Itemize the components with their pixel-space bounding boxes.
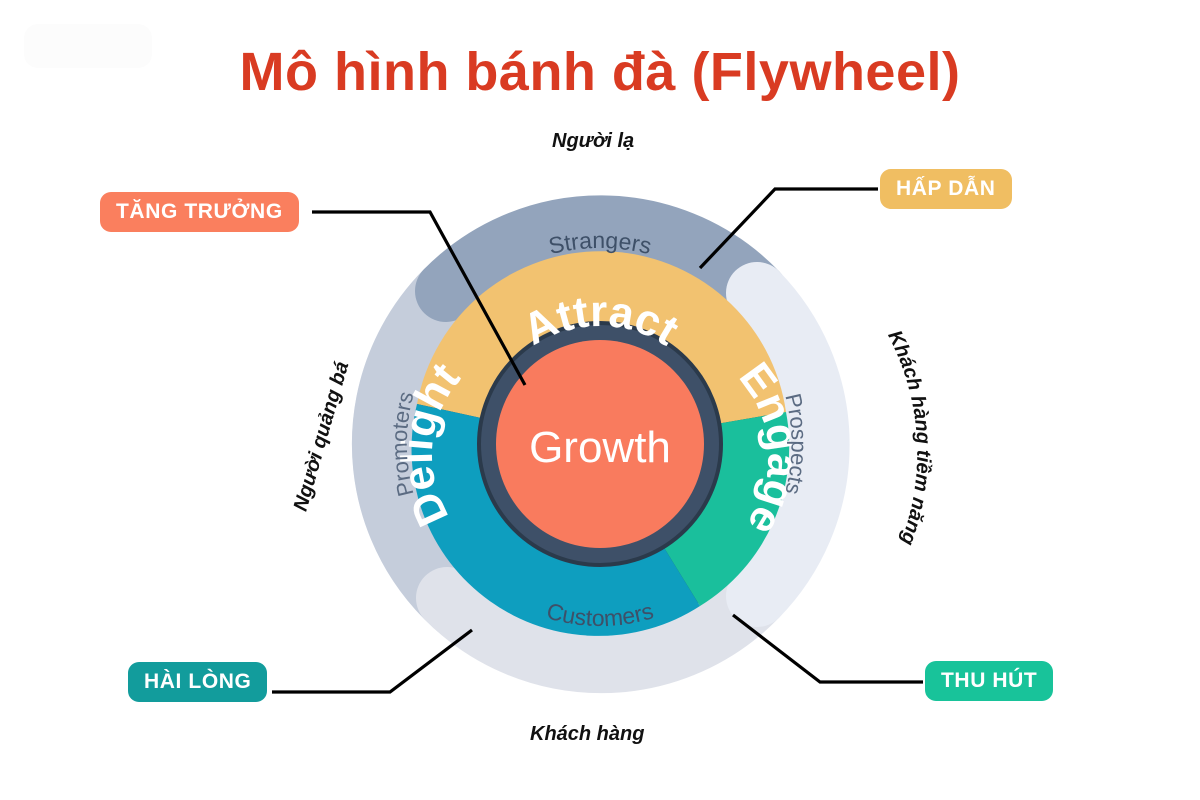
badge-tang-truong[interactable]: TĂNG TRƯỞNG <box>100 192 299 232</box>
flywheel-diagram: Mô hình bánh đà (Flywheel) <box>0 0 1200 800</box>
badge-thu-hut[interactable]: THU HÚT <box>925 661 1053 701</box>
badge-hap-dan[interactable]: HẤP DẪN <box>880 169 1012 209</box>
vietnamese-curved-labels: Khách hàng tiềm năng <box>883 327 934 548</box>
hub-label-growth: Growth <box>529 423 671 472</box>
badge-hai-long[interactable]: HÀI LÒNG <box>128 662 267 702</box>
vn-label-customers: Khách hàng <box>530 723 644 746</box>
connector-delight <box>272 630 472 692</box>
vn-label-prospects: Khách hàng tiềm năng <box>883 327 934 548</box>
vn-label-strangers: Người lạ <box>552 130 634 153</box>
